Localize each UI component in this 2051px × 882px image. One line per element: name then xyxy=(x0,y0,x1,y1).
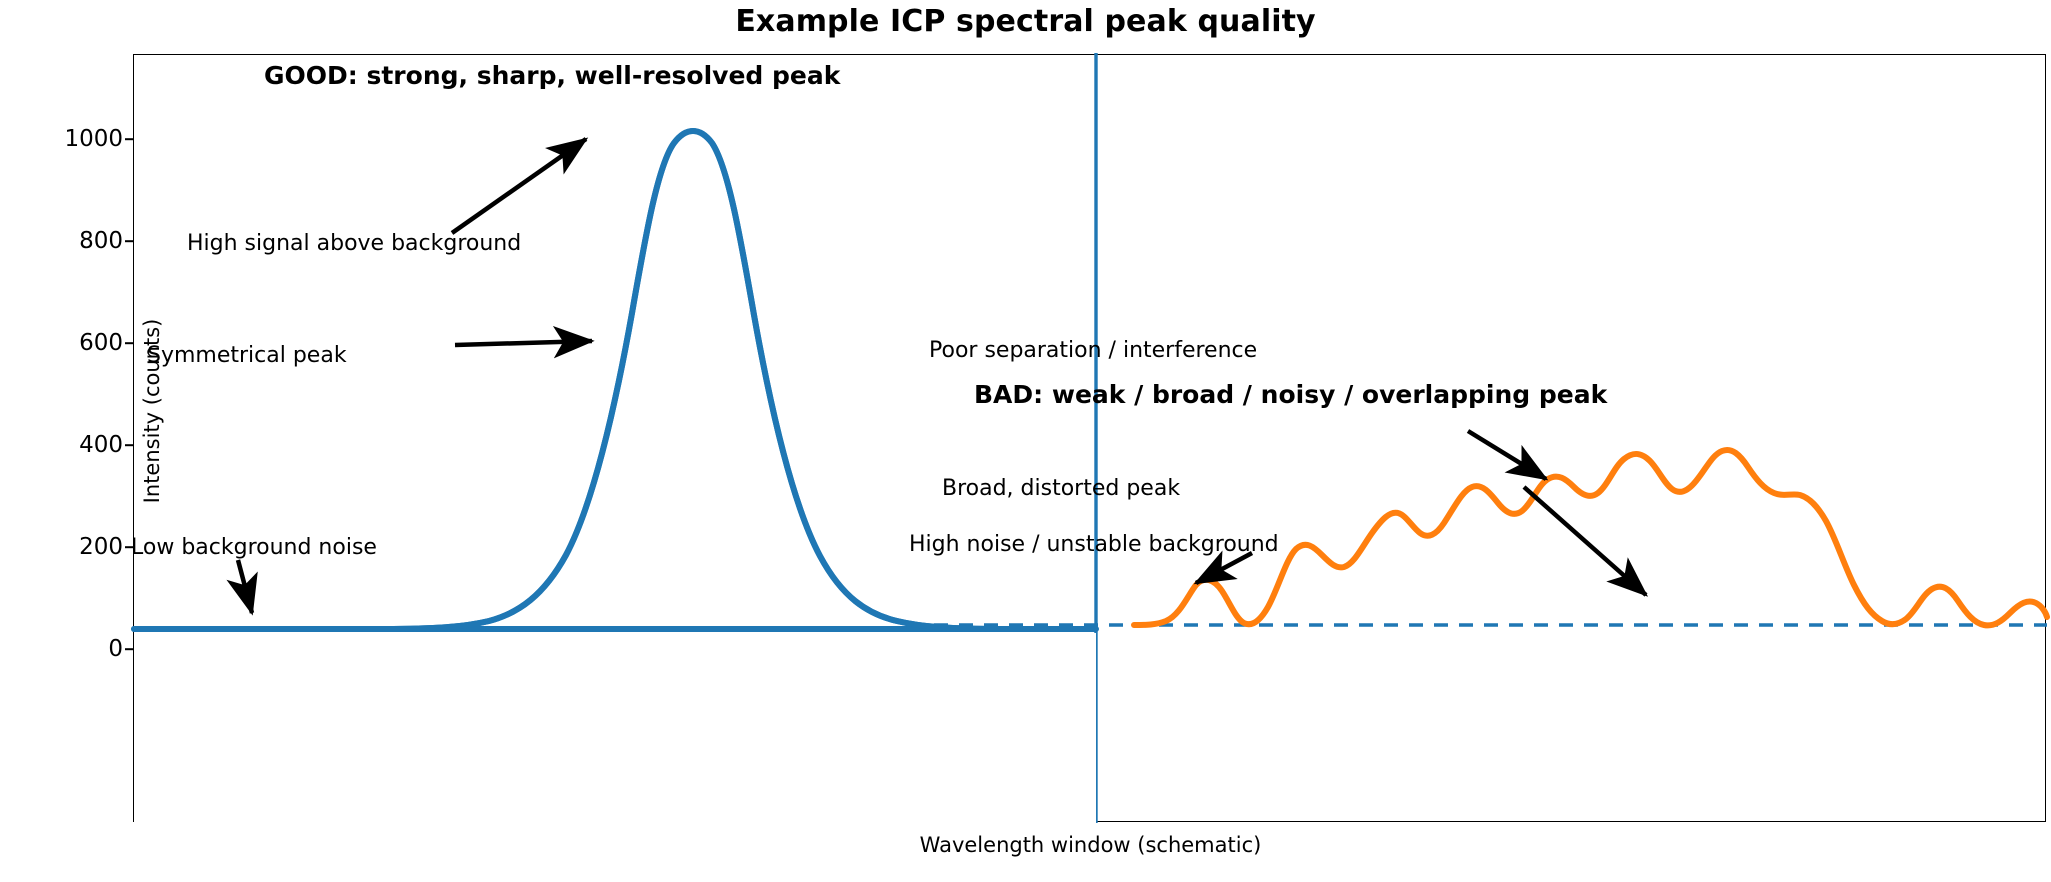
y-tick-mark-1000 xyxy=(125,138,134,140)
arrow-broad-distorted xyxy=(1468,431,1546,479)
annotation-poor-separation: Poor separation / interference xyxy=(929,338,1257,363)
annotation-symmetrical-peak: Symmetrical peak xyxy=(147,343,347,368)
annotation-high-noise: High noise / unstable background xyxy=(909,532,1279,557)
good-panel-heading: GOOD: strong, sharp, well-resolved peak xyxy=(264,61,840,90)
arrow-high-signal xyxy=(452,139,586,233)
annotation-low-background-noise: Low background noise xyxy=(131,535,377,560)
figure-canvas: Example ICP spectral peak quality 1000 8… xyxy=(0,0,2051,882)
y-tick-label-400: 400 xyxy=(79,432,123,458)
arrow-low-background-noise xyxy=(238,560,252,613)
plot-area xyxy=(134,55,2047,823)
y-tick-mark-600 xyxy=(125,342,134,344)
bad-panel-heading: BAD: weak / broad / noisy / overlapping … xyxy=(974,380,1607,409)
y-tick-label-0: 0 xyxy=(108,636,123,662)
y-tick-label-1000: 1000 xyxy=(64,126,123,152)
y-tick-mark-800 xyxy=(125,240,134,242)
annotation-broad-distorted-peak: Broad, distorted peak xyxy=(942,476,1180,501)
arrow-high-noise xyxy=(1196,553,1252,583)
plot-axes: 1000 800 600 400 200 0 Intensity (counts… xyxy=(133,54,2046,822)
y-tick-mark-0 xyxy=(125,648,134,650)
y-tick-label-800: 800 xyxy=(79,228,123,254)
y-tick-label-200: 200 xyxy=(79,534,123,560)
annotation-high-signal: High signal above background xyxy=(187,231,521,256)
y-tick-mark-400 xyxy=(125,444,134,446)
arrow-symmetrical-peak xyxy=(455,341,592,345)
arrow-poor-separation xyxy=(1524,487,1646,595)
x-axis-label: Wavelength window (schematic) xyxy=(134,833,2047,857)
figure-title: Example ICP spectral peak quality xyxy=(0,4,2051,39)
y-tick-label-600: 600 xyxy=(79,330,123,356)
